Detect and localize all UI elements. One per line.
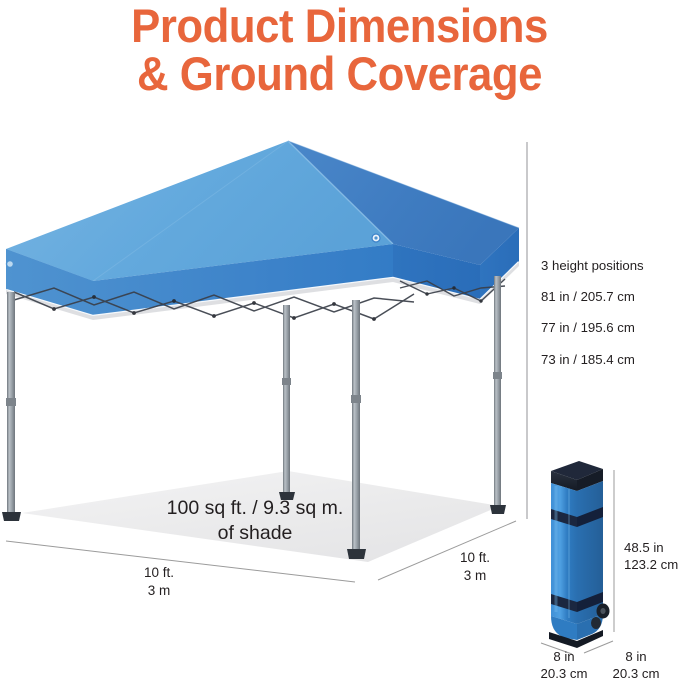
ground-dim-right-imperial: 10 ft. [425, 549, 525, 567]
bag-width-right-label: 8 in 20.3 cm [600, 649, 672, 683]
height-option-2: 77 in / 195.6 cm [541, 321, 644, 334]
bag-height-label: 48.5 in 123.2 cm [624, 540, 678, 574]
bag-width-right-metric: 20.3 cm [600, 666, 672, 683]
leg-back-center [279, 305, 295, 500]
ground-dimension-right-label: 10 ft. 3 m [425, 549, 525, 584]
bag-width-right-imperial: 8 in [600, 649, 672, 666]
leg-left [2, 292, 21, 521]
carry-bag [549, 461, 610, 648]
bag-width-left-imperial: 8 in [528, 649, 600, 666]
ground-dim-left-metric: 3 m [104, 582, 214, 600]
height-option-3: 73 in / 185.4 cm [541, 353, 644, 366]
bag-height-imperial: 48.5 in [624, 540, 678, 557]
ground-dim-right-metric: 3 m [425, 567, 525, 585]
canopy-vent-grommet [371, 233, 380, 242]
shade-area-line-2: of shade [130, 521, 380, 546]
bag-width-left-metric: 20.3 cm [528, 666, 600, 683]
height-positions-heading: 3 height positions [541, 259, 644, 272]
ground-dim-left-imperial: 10 ft. [104, 564, 214, 582]
bag-width-left-label: 8 in 20.3 cm [528, 649, 600, 683]
leg-right [490, 276, 506, 514]
shade-area-label: 100 sq ft. / 9.3 sq m. of shade [130, 496, 380, 545]
ground-dimension-left-label: 10 ft. 3 m [104, 564, 214, 599]
shade-area-line-1: 100 sq ft. / 9.3 sq m. [167, 497, 344, 519]
height-option-1: 81 in / 205.7 cm [541, 290, 644, 303]
bag-height-metric: 123.2 cm [624, 557, 678, 574]
height-positions-list: 3 height positions 81 in / 205.7 cm 77 i… [541, 259, 644, 366]
canopy-vent-grommet-left [6, 260, 14, 268]
